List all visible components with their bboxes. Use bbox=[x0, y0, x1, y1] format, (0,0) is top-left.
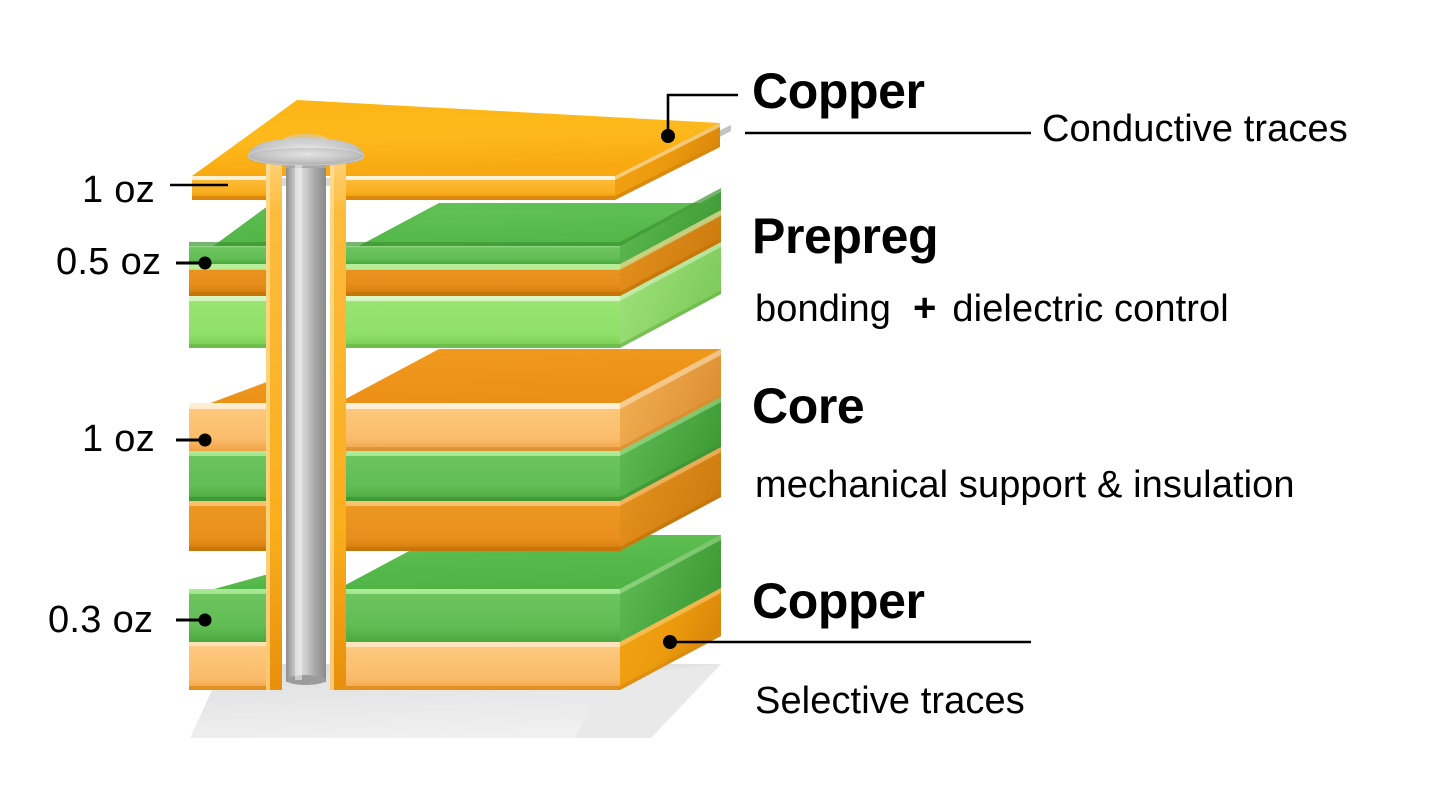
label-copper-weight-03oz: 0.3 oz bbox=[48, 601, 153, 639]
heading-copper-bottom: Copper bbox=[752, 576, 925, 626]
subtitle-prepreg-part-2: dielectric control bbox=[952, 288, 1228, 330]
label-copper-weight-05oz: 0.5 oz bbox=[56, 243, 161, 281]
heading-copper-top: Copper bbox=[752, 66, 925, 116]
subtitle-selective-traces: Selective traces bbox=[755, 682, 1025, 720]
heading-prepreg: Prepreg bbox=[752, 211, 938, 261]
subtitle-conductive-traces: Conductive traces bbox=[1042, 110, 1348, 148]
label-copper-weight-1oz-top: 1 oz bbox=[82, 171, 155, 209]
subtitle-core: mechanical support & insulation bbox=[755, 466, 1295, 504]
pcb-stackup-illustration: 1 oz 0.5 oz 1 oz 0.3 oz Copper Conductiv… bbox=[0, 0, 1431, 793]
plus-icon: + bbox=[891, 286, 952, 330]
subtitle-prepreg: bonding+dielectric control bbox=[755, 288, 1229, 328]
heading-core: Core bbox=[752, 381, 864, 431]
label-copper-weight-1oz-core: 1 oz bbox=[82, 420, 155, 458]
subtitle-prepreg-part-1: bonding bbox=[755, 288, 891, 330]
